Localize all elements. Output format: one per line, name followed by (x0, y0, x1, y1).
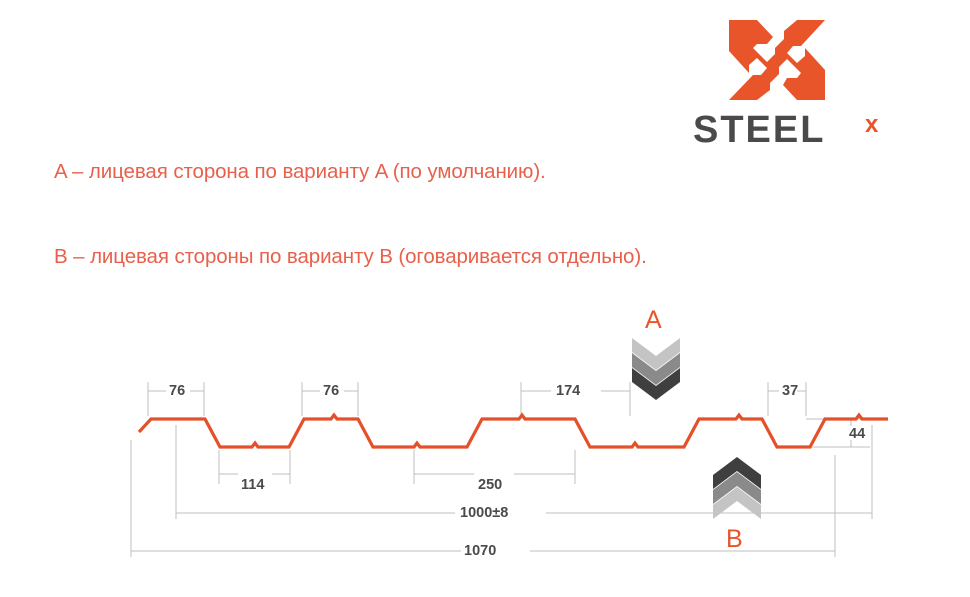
dim-label-174: 174 (556, 383, 580, 399)
dim-label-37: 37 (782, 383, 798, 399)
dim-label-44: 44 (849, 426, 865, 442)
dim-label-114: 114 (241, 477, 264, 493)
dim-label-76-left: 76 (169, 383, 185, 399)
profile-outline (139, 415, 888, 447)
marker-b-chevrons (713, 457, 761, 519)
dim-label-1070: 1070 (464, 543, 496, 559)
dim-label-250: 250 (478, 477, 502, 493)
dim-label-1000: 1000±8 (460, 505, 508, 521)
marker-a-chevrons (632, 338, 680, 400)
dim-label-76-mid: 76 (323, 383, 339, 399)
profile-datasheet-page: { "brand": { "name": "STEEL", "superscri… (0, 0, 970, 597)
dimension-lines-group (131, 382, 872, 557)
